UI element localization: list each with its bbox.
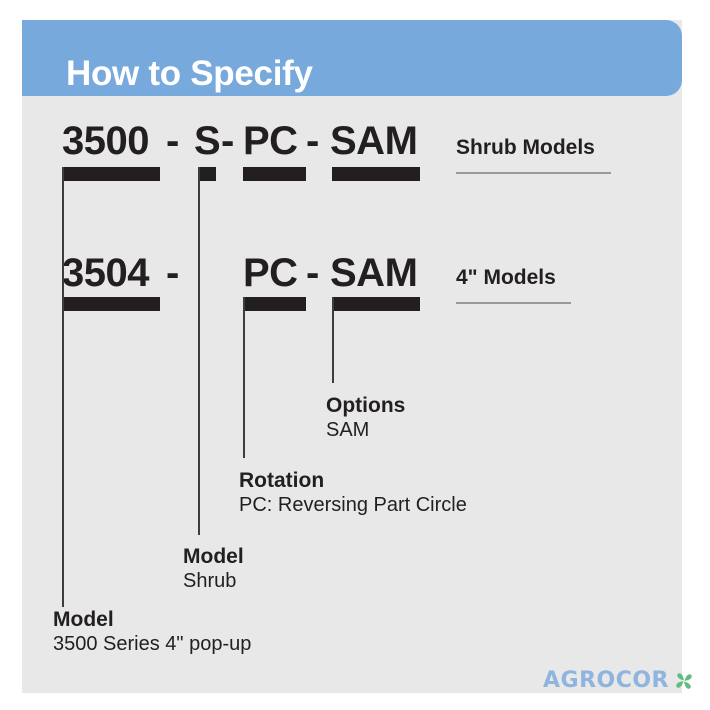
row-label-shrub-models: Shrub Models — [456, 136, 595, 160]
callout-model-shrub-title: Model — [183, 544, 244, 569]
code-segment-rotation-pc: PC — [243, 116, 298, 166]
page-title: How to Specify — [66, 54, 313, 94]
callout-model-series-subtitle: 3500 Series 4" pop-up — [53, 632, 251, 657]
clover-icon — [674, 671, 694, 691]
underline-bar-r1-rotation — [243, 167, 306, 181]
code-segment-model-3500: 3500 — [62, 116, 149, 166]
connector-line-rotation — [243, 297, 245, 458]
row-label-underline-shrub — [456, 172, 611, 174]
row-label-four-inch-models: 4" Models — [456, 266, 556, 290]
underline-bar-r1-shrub — [198, 167, 216, 181]
code-separator-r2-3: - — [306, 248, 319, 298]
how-to-specify-diagram: How to Specify 3500 - S - PC - SAM Shrub… — [0, 0, 710, 710]
callout-options: Options SAM — [326, 393, 405, 443]
code-separator-3: - — [306, 116, 319, 166]
connector-line-options — [332, 297, 334, 383]
callout-rotation-subtitle: PC: Reversing Part Circle — [239, 493, 467, 518]
code-segment-model-shrub: S — [194, 116, 220, 166]
code-separator-2: - — [221, 116, 234, 166]
underline-bar-r2-rotation — [243, 297, 306, 311]
callout-rotation-title: Rotation — [239, 468, 467, 493]
connector-line-model-series — [62, 167, 64, 607]
code-separator-1: - — [166, 116, 179, 166]
code-row-four-inch: 3504 - PC - SAM — [0, 248, 710, 304]
callout-model-series: Model 3500 Series 4" pop-up — [53, 607, 251, 657]
code-segment-r2-options-sam: SAM — [330, 248, 417, 298]
code-separator-r2-1: - — [166, 248, 179, 298]
brand-logo: AGROCOR — [543, 670, 694, 692]
code-segment-model-3504: 3504 — [62, 248, 149, 298]
code-row-shrub: 3500 - S - PC - SAM — [0, 116, 710, 172]
callout-model-shrub: Model Shrub — [183, 544, 244, 594]
callout-model-series-title: Model — [53, 607, 251, 632]
code-segment-r2-rotation-pc: PC — [243, 248, 298, 298]
callout-options-subtitle: SAM — [326, 418, 405, 443]
header-bar: How to Specify — [22, 20, 682, 96]
underline-bar-r1-model — [62, 167, 160, 181]
callout-rotation: Rotation PC: Reversing Part Circle — [239, 468, 467, 518]
underline-bar-r1-options — [332, 167, 420, 181]
callout-options-title: Options — [326, 393, 405, 418]
row-label-underline-four-inch — [456, 302, 571, 304]
underline-bar-r2-options — [332, 297, 420, 311]
brand-logo-text: AGROCOR — [543, 670, 669, 692]
connector-line-model-shrub — [198, 167, 200, 535]
callout-model-shrub-subtitle: Shrub — [183, 569, 244, 594]
code-segment-options-sam: SAM — [330, 116, 417, 166]
underline-bar-r2-model — [62, 297, 160, 311]
